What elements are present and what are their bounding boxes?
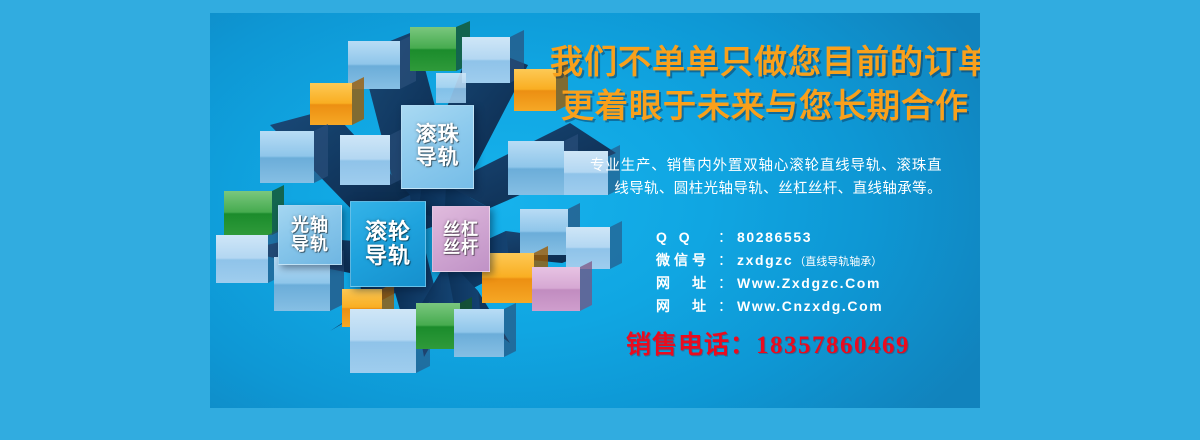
promo-banner: 滚珠 导轨 光轴 导轨 滚轮 导轨 丝杠 丝杆 我们不单单只做您目前的订单 更着… [0,0,1200,440]
product-label-line1: 丝杠 [443,221,479,239]
product-label-roller-guide: 滚轮 导轨 [350,201,426,287]
sales-phone-line: 销售电话：18357860469 [568,325,968,361]
contact-value-wechat: zxdgzc [737,250,793,271]
product-label-line2: 丝杆 [443,239,479,257]
headline-line-1: 我们不单单只做您目前的订单 [550,40,980,84]
contact-note-wechat: （直线导轨轴承） [794,254,882,271]
contact-row-wechat: 微信号 ： zxdgzc （直线导轨轴承） [656,250,980,271]
contact-row-website-2[interactable]: 网 址 ： Www.Cnzxdg.Com [656,296,980,317]
contact-colon: ： [718,273,732,294]
contact-key: 网 址 [656,296,718,317]
contact-block: Q Q ： 80286553 微信号 ： zxdgzc （直线导轨轴承） 网 址… [656,227,980,319]
product-label-line2: 导轨 [291,235,329,254]
contact-row-qq: Q Q ： 80286553 [656,227,980,248]
product-label-ball-guide: 滚珠 导轨 [401,105,474,189]
banner-content-column: 我们不单单只做您目前的订单 更着眼于未来与您长期合作 专业生产、销售内外置双轴心… [550,13,980,408]
product-label-line1: 光轴 [291,216,329,235]
product-label-shaft-guide: 光轴 导轨 [278,205,342,265]
contact-key: Q Q [656,227,718,248]
contact-row-website-1[interactable]: 网 址 ： Www.Zxdgzc.Com [656,273,980,294]
sales-phone-number[interactable]: 18357860469 [756,332,910,359]
banner-panel: 滚珠 导轨 光轴 导轨 滚轮 导轨 丝杠 丝杆 我们不单单只做您目前的订单 更着… [210,13,980,408]
contact-colon: ： [718,296,732,317]
headline: 我们不单单只做您目前的订单 更着眼于未来与您长期合作 [550,40,980,127]
product-label-line1: 滚珠 [416,124,460,147]
contact-colon: ： [718,250,732,271]
contact-value-website-2[interactable]: Www.Cnzxdg.Com [737,296,883,317]
product-label-line2: 导轨 [365,244,411,268]
product-label-lead-screw: 丝杠 丝杆 [432,206,490,272]
description-text: 专业生产、销售内外置双轴心滚轮直线导轨、滚珠直线导轨、圆柱光轴导轨、丝杠丝杆、直… [590,155,942,202]
contact-value-website-1[interactable]: Www.Zxdgzc.Com [737,273,881,294]
contact-key: 微信号 [656,250,718,271]
contact-key: 网 址 [656,273,718,294]
contact-colon: ： [718,227,732,248]
product-label-line2: 导轨 [416,147,460,170]
product-label-line1: 滚轮 [365,220,411,244]
sales-phone-label: 销售电话： [626,331,756,359]
contact-value-qq: 80286553 [737,227,812,248]
headline-line-2: 更着眼于未来与您长期合作 [550,84,980,128]
